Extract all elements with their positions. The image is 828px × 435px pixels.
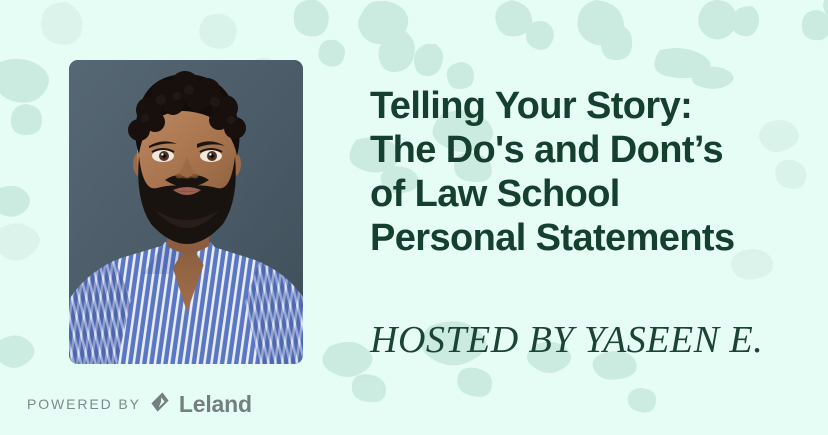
title-line-3: of Law School (370, 172, 810, 216)
page-title: Telling Your Story: The Do's and Dont’s … (370, 84, 810, 260)
title-line-4: Personal Statements (370, 216, 810, 260)
leland-diamond-icon (150, 390, 170, 419)
host-byline: HOSTED BY YASEEN E. (370, 318, 763, 362)
speaker-headshot (69, 60, 303, 364)
leland-wordmark: Leland (179, 391, 252, 418)
text-column: Telling Your Story: The Do's and Dont’s … (370, 0, 810, 435)
title-line-1: Telling Your Story: (370, 84, 810, 128)
powered-by-branding: POWERED BY Leland (27, 390, 252, 418)
powered-by-label: POWERED BY (27, 396, 141, 412)
title-line-2: The Do's and Dont’s (370, 128, 810, 172)
event-promo-banner: Telling Your Story: The Do's and Dont’s … (0, 0, 828, 435)
